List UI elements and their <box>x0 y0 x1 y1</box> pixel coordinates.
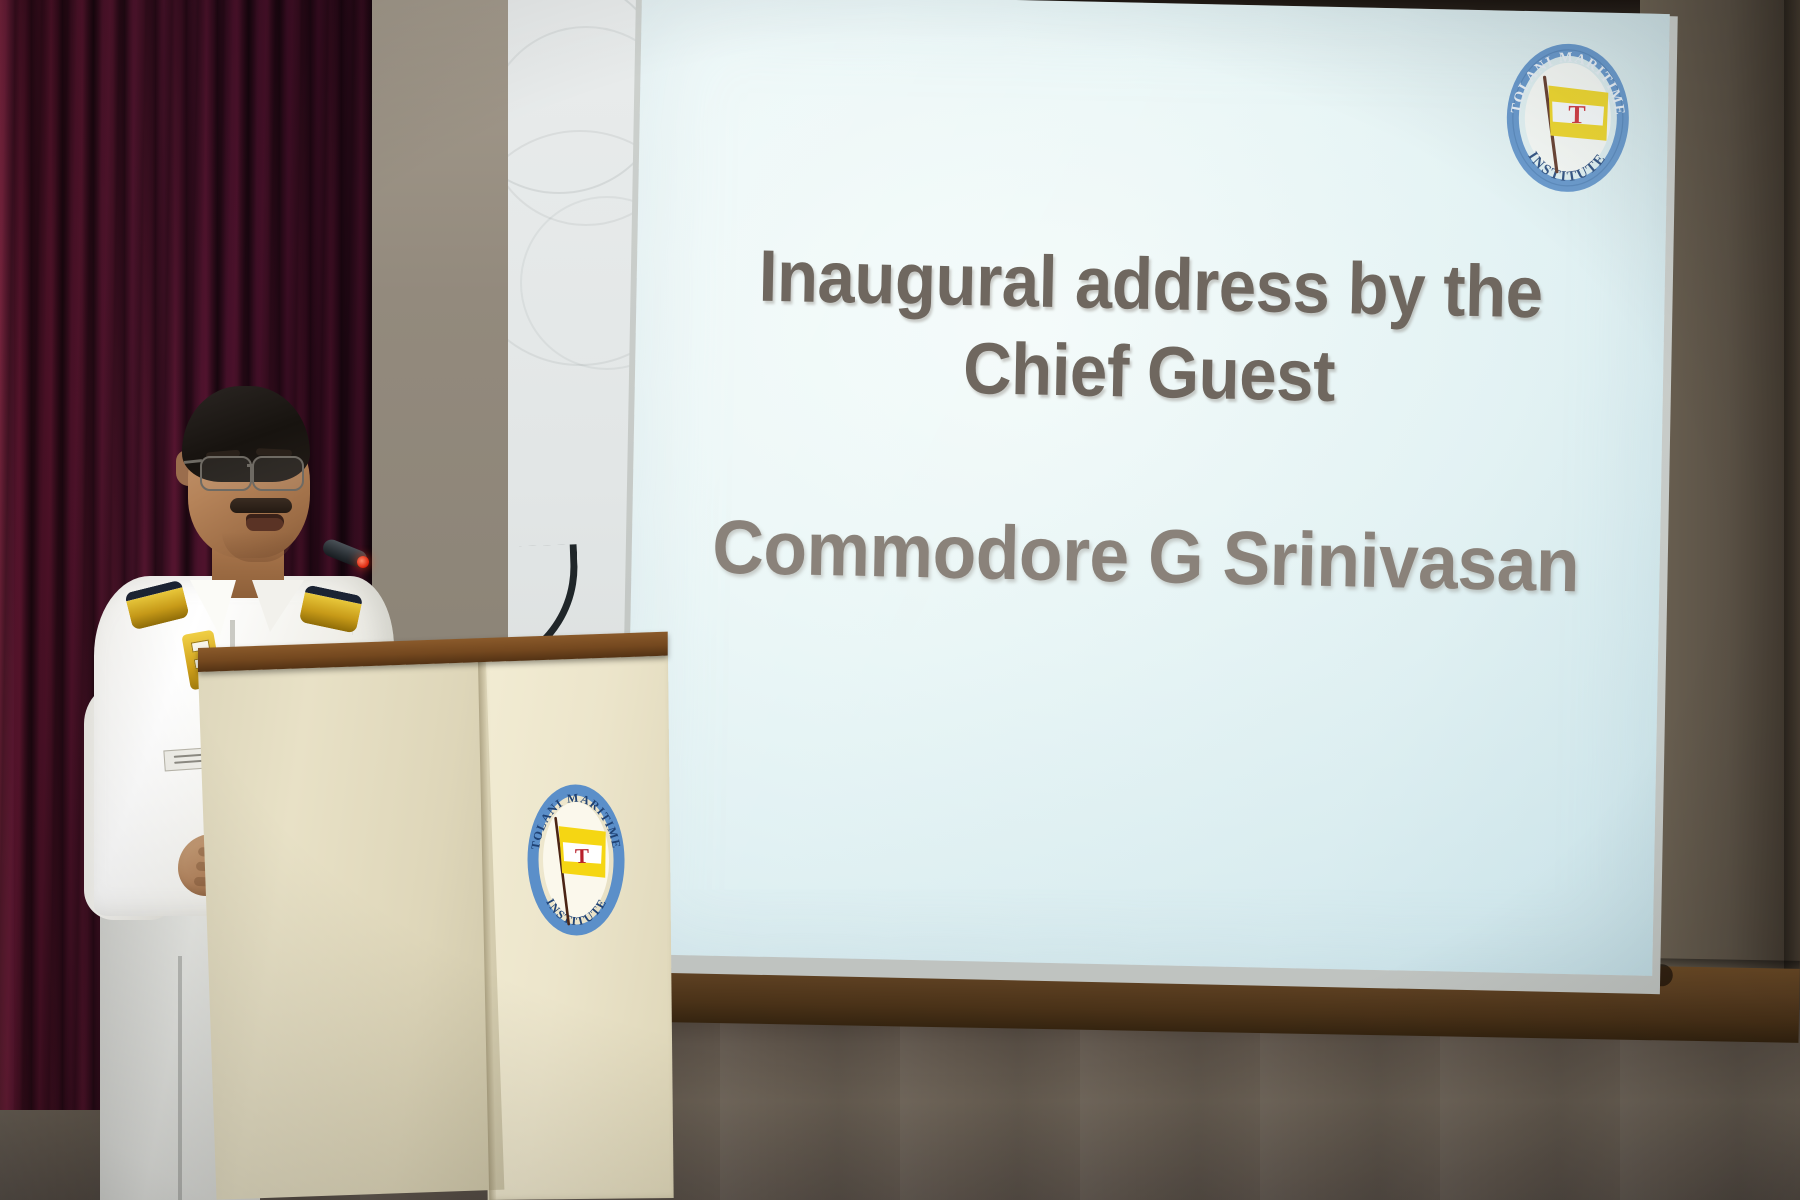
stage-photo-scene: TOLANI MARITIME INSTITUTE T Inaugural ad… <box>0 0 1800 1200</box>
right-wall-edge <box>1784 0 1800 1060</box>
speaker-moustache <box>230 498 292 513</box>
microphone-status-led <box>357 556 369 568</box>
podium-front-panel <box>198 658 504 1200</box>
eyeglasses-lens-right <box>252 456 304 491</box>
slide-title-line-1: Inaugural address by the <box>758 236 1543 334</box>
slide-title: Inaugural address by the Chief Guest <box>676 231 1625 426</box>
tolani-maritime-institute-logo: TOLANI MARITIME INSTITUTE T <box>525 777 627 936</box>
svg-text:T: T <box>575 844 589 868</box>
curtain-edge-highlight <box>0 0 14 1110</box>
svg-text:T: T <box>1568 100 1586 129</box>
slide-title-line-2: Chief Guest <box>676 318 1623 426</box>
slide-speaker-name: Commodore G Srinivasan <box>662 503 1630 611</box>
tolani-maritime-institute-logo: TOLANI MARITIME INSTITUTE T <box>1503 39 1634 194</box>
projection-screen: TOLANI MARITIME INSTITUTE T Inaugural ad… <box>624 0 1669 976</box>
speaker-collar-right <box>252 580 304 632</box>
eyeglasses-lens-left <box>200 456 252 491</box>
speaker-mouth <box>246 514 284 531</box>
eyeglasses-bridge <box>247 464 254 467</box>
